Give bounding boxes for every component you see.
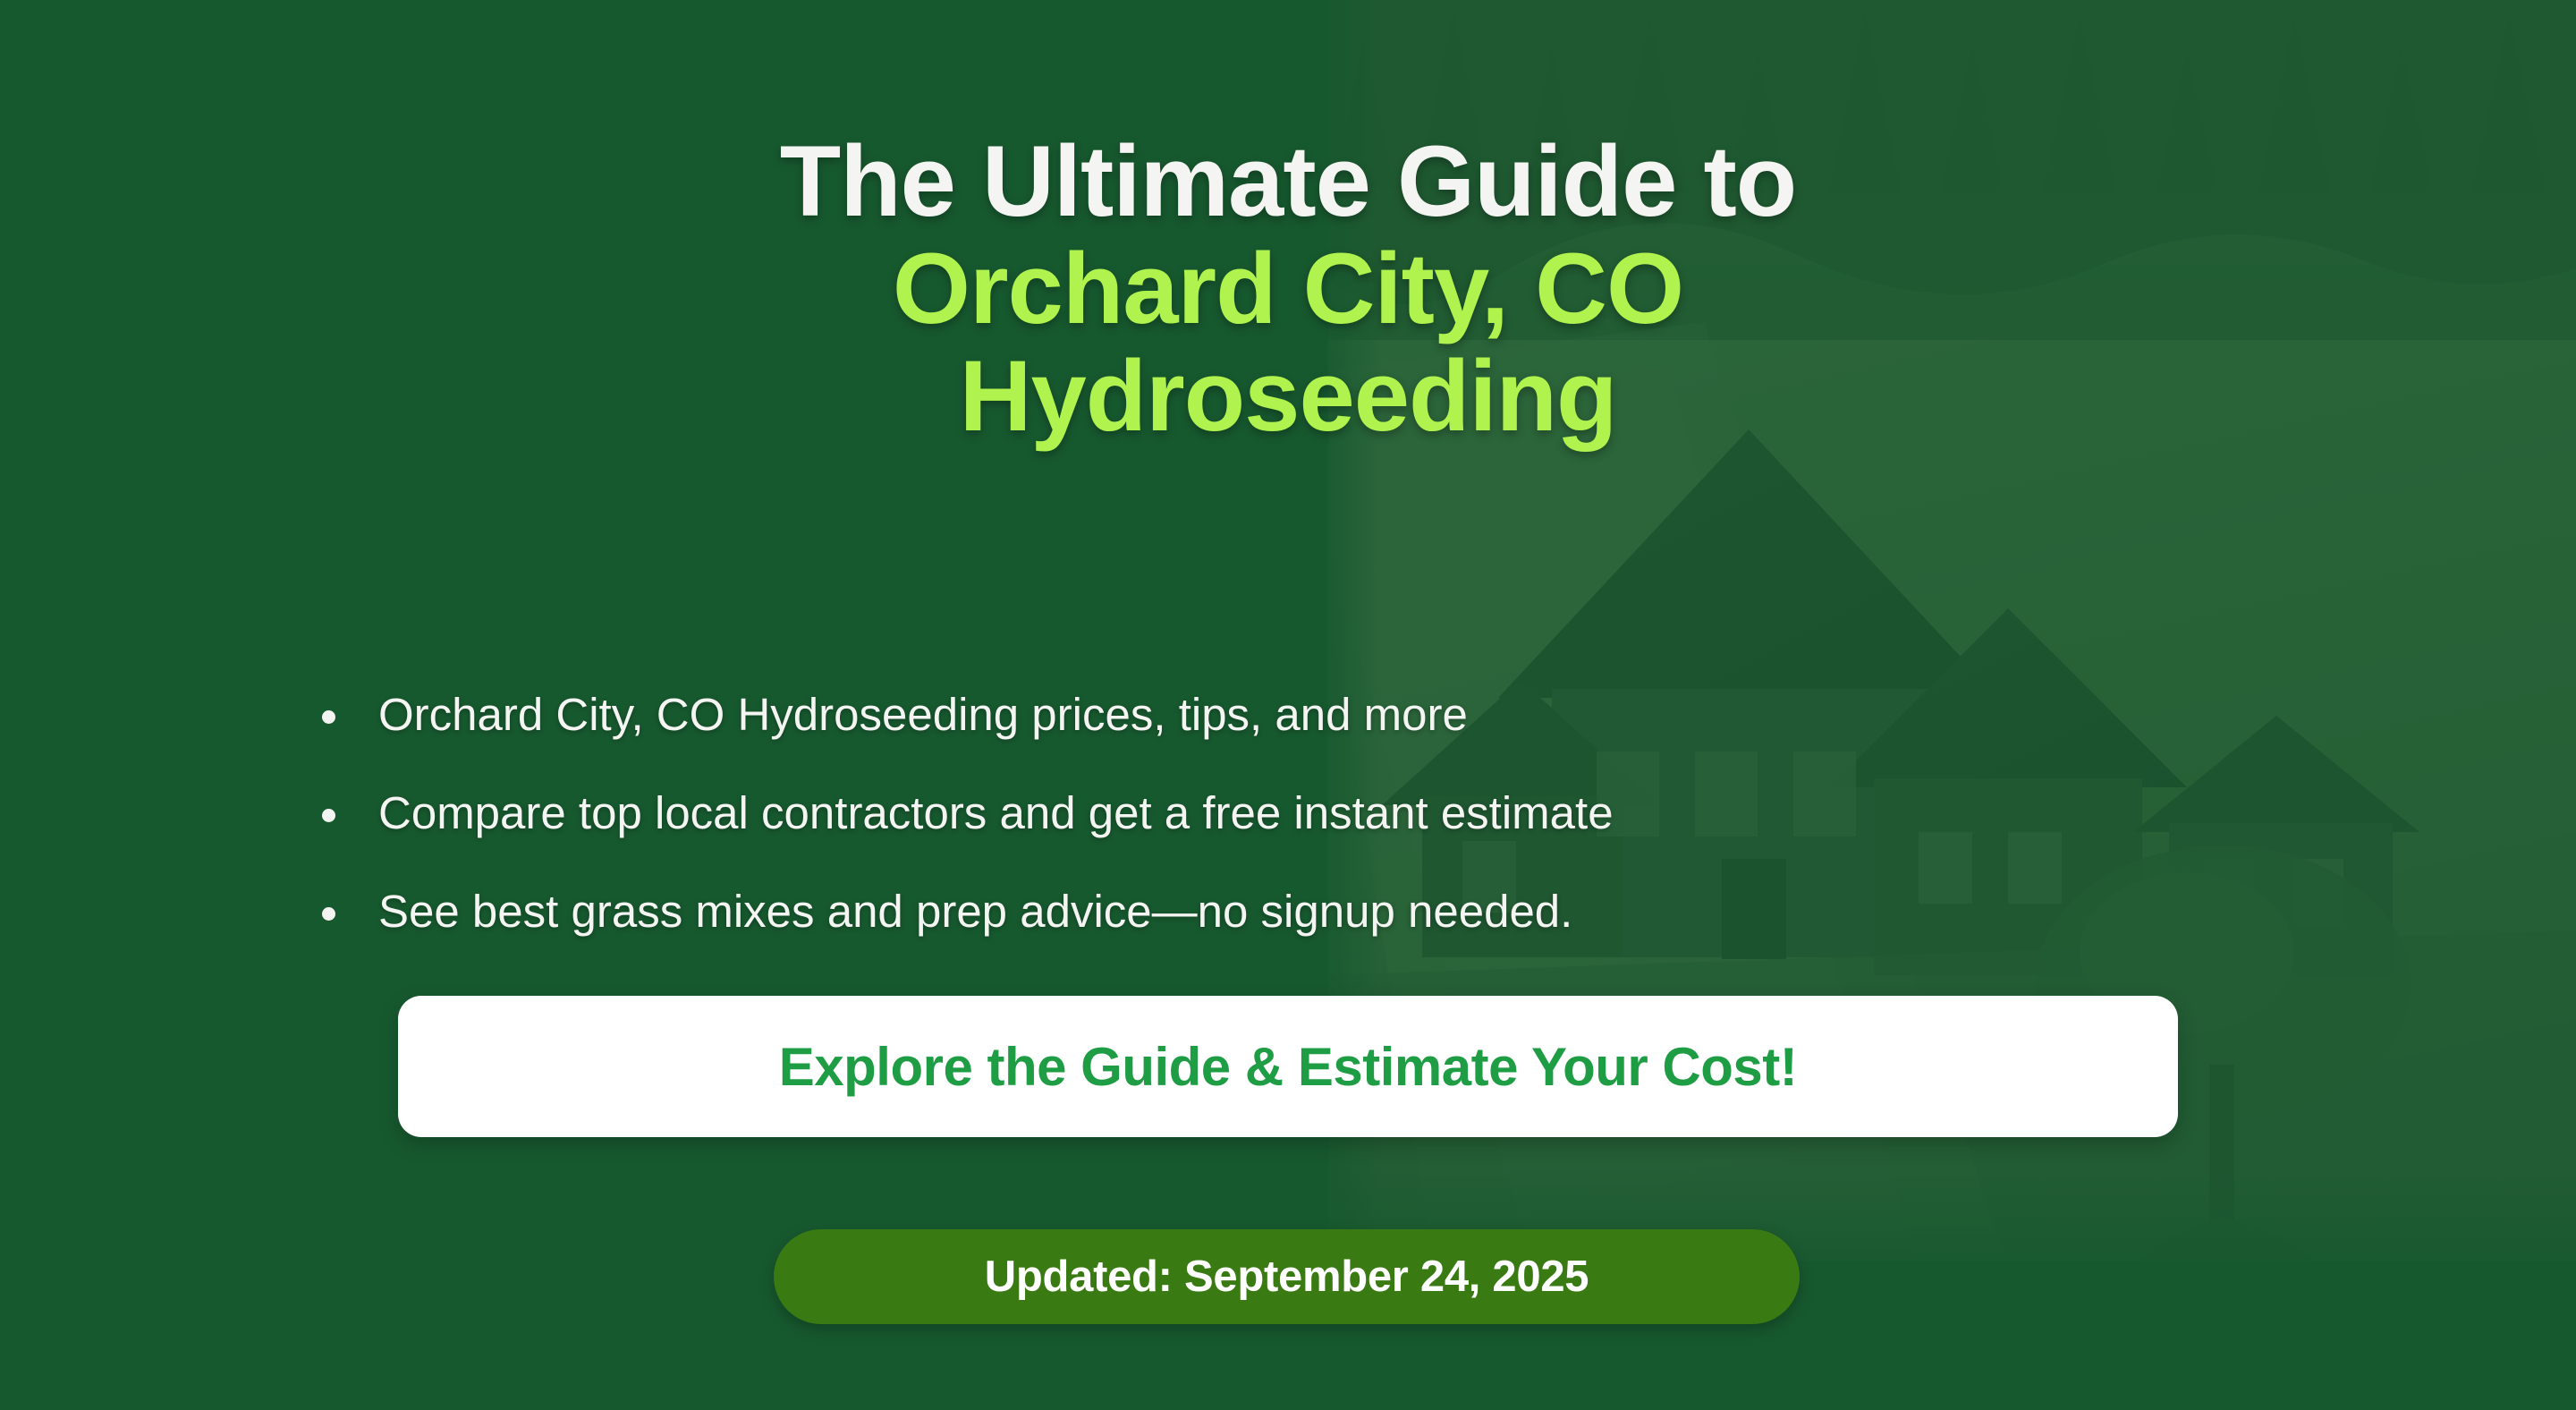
explore-guide-button[interactable]: Explore the Guide & Estimate Your Cost! xyxy=(398,996,2178,1137)
list-item: Orchard City, CO Hydroseeding prices, ti… xyxy=(322,689,1614,740)
headline-line-3: Hydroseeding xyxy=(143,343,2433,450)
list-item-label: See best grass mixes and prep advice—no … xyxy=(378,886,1572,937)
headline-line-1: The Ultimate Guide to xyxy=(143,128,2433,235)
bullet-dot-icon xyxy=(322,710,335,724)
headline-line-2: Orchard City, CO xyxy=(143,235,2433,343)
explore-guide-button-label: Explore the Guide & Estimate Your Cost! xyxy=(779,1036,1798,1098)
bullet-dot-icon xyxy=(322,907,335,921)
banner-content: The Ultimate Guide to Orchard City, CO H… xyxy=(0,0,2576,1410)
bullet-dot-icon xyxy=(322,809,335,822)
updated-badge: Updated: September 24, 2025 xyxy=(774,1229,1800,1324)
list-item-label: Compare top local contractors and get a … xyxy=(378,787,1614,838)
list-item: Compare top local contractors and get a … xyxy=(322,787,1614,838)
hero-banner: The Ultimate Guide to Orchard City, CO H… xyxy=(0,0,2576,1410)
list-item-label: Orchard City, CO Hydroseeding prices, ti… xyxy=(378,689,1468,740)
list-item: See best grass mixes and prep advice—no … xyxy=(322,886,1614,937)
updated-badge-label: Updated: September 24, 2025 xyxy=(985,1252,1589,1302)
page-title: The Ultimate Guide to Orchard City, CO H… xyxy=(0,128,2576,449)
benefits-list: Orchard City, CO Hydroseeding prices, ti… xyxy=(322,689,1614,937)
